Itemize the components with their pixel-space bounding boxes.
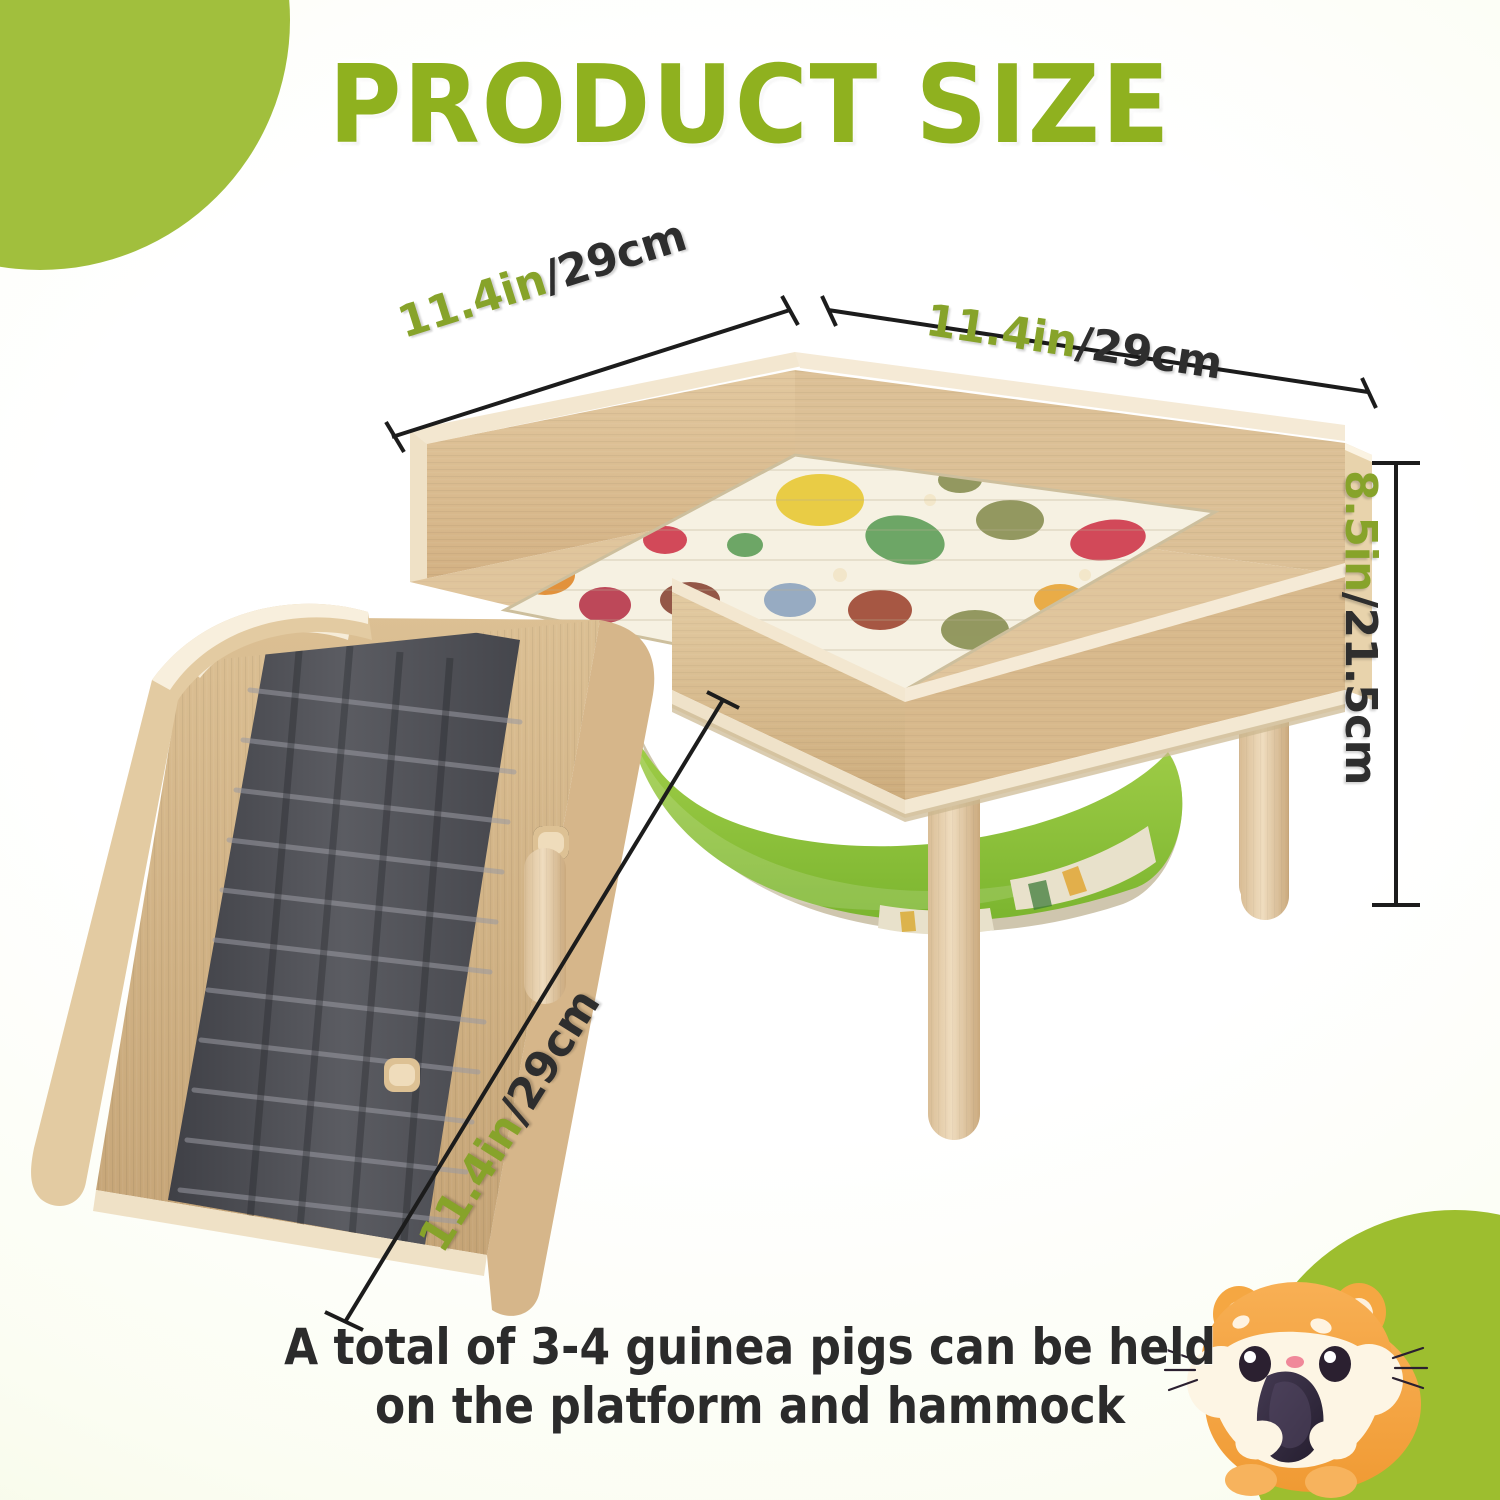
hamster-foot-left	[1225, 1464, 1277, 1496]
caption-line-1: A total of 3-4 guinea pigs can be held	[284, 1318, 1216, 1376]
caption-line-2: on the platform and hammock	[143, 1377, 1357, 1436]
caption-text: A total of 3-4 guinea pigs can be held o…	[143, 1318, 1357, 1436]
dimension-label-platform-height: 8.5in/21.5cm	[1335, 470, 1386, 785]
infographic-canvas: PRODUCT SIZE	[0, 0, 1500, 1500]
dimension-value-metric: 21.5cm	[1335, 607, 1386, 785]
dimension-separator: /	[1335, 592, 1386, 608]
dimension-value-imperial: 8.5in	[1335, 470, 1386, 592]
hamster-foot-right	[1305, 1466, 1357, 1498]
